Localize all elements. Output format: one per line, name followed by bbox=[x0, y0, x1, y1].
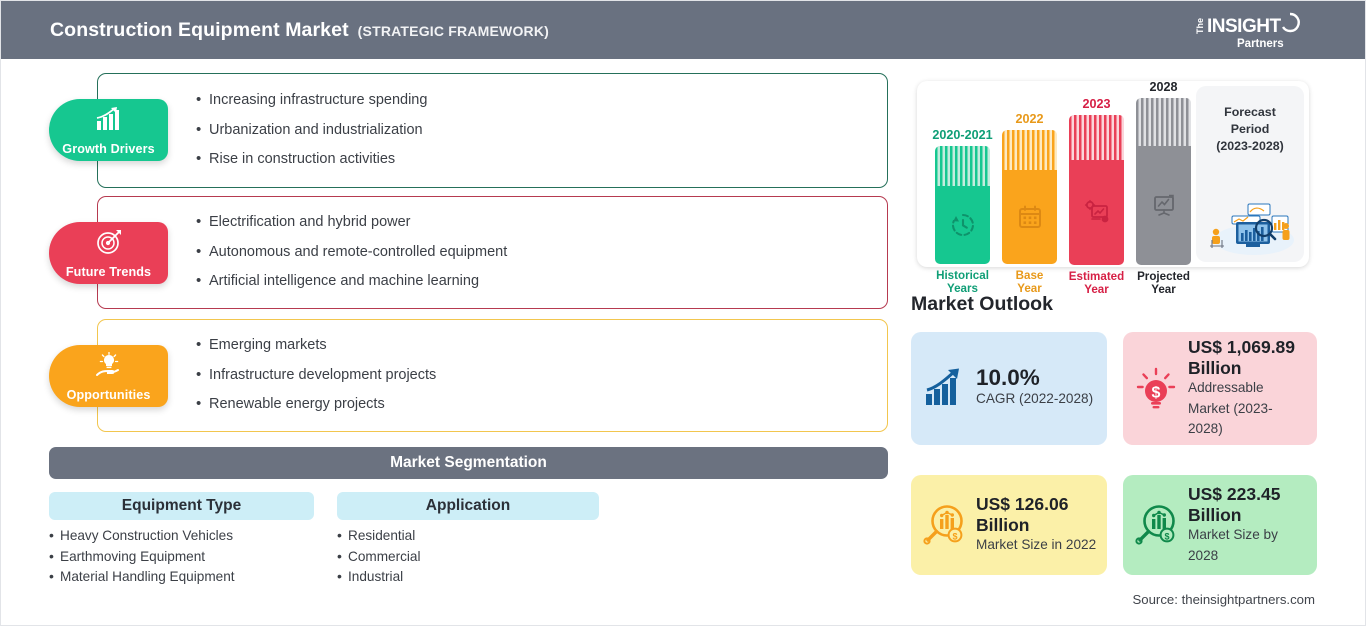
timeline-year-label: 2020-2021 bbox=[932, 129, 992, 142]
timeline-bar-historical-years: 2020-2021 Historical Years bbox=[935, 129, 990, 295]
page-title: Construction Equipment Market bbox=[50, 19, 349, 42]
stat-card-subtitle: Addressable Market (2023-2028) bbox=[1188, 378, 1307, 440]
stat-card-text: 10.0% CAGR (2022-2028) bbox=[976, 368, 1093, 409]
segmentation-header-label: Equipment Type bbox=[122, 497, 241, 515]
timeline-bar-solid bbox=[1136, 146, 1191, 265]
framework-badge-future-trends[interactable]: Future Trends bbox=[49, 222, 168, 284]
bullet-item: Rise in construction activities bbox=[196, 152, 427, 168]
framework-box-future-trends: Electrification and hybrid power Autonom… bbox=[97, 196, 888, 309]
svg-text:INSIGHT: INSIGHT bbox=[1207, 16, 1281, 37]
list-item: Industrial bbox=[337, 567, 421, 588]
data-analysis-illustration bbox=[1202, 196, 1298, 256]
bullet-item: Autonomous and remote-controlled equipme… bbox=[196, 245, 507, 261]
svg-text:$: $ bbox=[1164, 532, 1169, 542]
stat-card-addressable-market[interactable]: $ US$ 1,069.89 Billion Addressable Marke… bbox=[1123, 332, 1317, 445]
bullet-list-opportunities: Emerging markets Infrastructure developm… bbox=[196, 320, 436, 431]
segmentation-header-label: Application bbox=[426, 497, 510, 515]
timeline-bar-stripes bbox=[1069, 115, 1124, 160]
svg-text:Partners: Partners bbox=[1237, 38, 1284, 50]
svg-text:$: $ bbox=[952, 532, 957, 542]
list-item: Heavy Construction Vehicles bbox=[49, 526, 235, 547]
bullet-item: Electrification and hybrid power bbox=[196, 215, 507, 231]
forecast-period-box: Forecast Period (2023-2028) bbox=[1196, 86, 1304, 262]
calendar-icon bbox=[1017, 204, 1043, 230]
framework-box-opportunities: Emerging markets Infrastructure developm… bbox=[97, 319, 888, 432]
source-attribution: Source: theinsightpartners.com bbox=[1132, 592, 1315, 607]
page-header: Construction Equipment Market (STRATEGIC… bbox=[1, 1, 1366, 59]
segmentation-header-equipment-type: Equipment Type bbox=[49, 492, 314, 520]
stat-card-text: US$ 126.06 Billion Market Size in 2022 bbox=[976, 494, 1097, 556]
segmentation-header-application: Application bbox=[337, 492, 599, 520]
market-segmentation-bar: Market Segmentation bbox=[49, 447, 888, 479]
stat-card-market-size-2022[interactable]: $ US$ 126.06 Billion Market Size in 2022 bbox=[911, 475, 1107, 575]
timeline-year-label: 2023 bbox=[1082, 98, 1110, 111]
bullet-item: Emerging markets bbox=[196, 338, 436, 354]
market-segmentation-title: Market Segmentation bbox=[390, 454, 547, 472]
stat-card-text: US$ 223.45 Billion Market Size by 2028 bbox=[1188, 484, 1307, 566]
bullet-item: Urbanization and industrialization bbox=[196, 123, 427, 139]
svg-text:The: The bbox=[1195, 18, 1205, 34]
infographic-page: Construction Equipment Market (STRATEGIC… bbox=[0, 0, 1366, 626]
framework-badge-label: Opportunities bbox=[67, 389, 151, 402]
framework-badge-growth-drivers[interactable]: Growth Drivers bbox=[49, 99, 168, 161]
stat-card-value: US$ 1,069.89 Billion bbox=[1188, 337, 1307, 378]
lightbulb-dollar-icon: $ bbox=[1133, 366, 1179, 412]
timeline-bar-shape bbox=[1002, 130, 1057, 264]
stat-card-subtitle: CAGR (2022-2028) bbox=[976, 389, 1093, 410]
market-outlook-title: Market Outlook bbox=[911, 293, 1053, 316]
list-item: Material Handling Equipment bbox=[49, 567, 235, 588]
stat-card-market-size-2028[interactable]: $ US$ 223.45 Billion Market Size by 2028 bbox=[1123, 475, 1317, 575]
timeline-bar-solid bbox=[1069, 160, 1124, 265]
bullet-item: Renewable energy projects bbox=[196, 397, 436, 413]
bullet-item: Infrastructure development projects bbox=[196, 368, 436, 384]
stat-card-value: US$ 223.45 Billion bbox=[1188, 484, 1307, 525]
timeline-caption: Historical Years bbox=[936, 269, 989, 295]
timeline-bar-shape bbox=[1069, 115, 1124, 265]
timeline-bar-stripes bbox=[935, 146, 990, 186]
timeline-bar-base-year: 2022 bbox=[1002, 113, 1057, 295]
target-dart-icon bbox=[94, 229, 124, 255]
bullet-item: Artificial intelligence and machine lear… bbox=[196, 274, 507, 290]
segmentation-list-application: Residential Commercial Industrial bbox=[337, 526, 421, 588]
forecast-period-title: Forecast Period (2023-2028) bbox=[1196, 104, 1304, 155]
timeline-bar-stripes bbox=[1136, 98, 1191, 146]
page-subtitle: (STRATEGIC FRAMEWORK) bbox=[358, 23, 549, 39]
timeline-caption: Base Year bbox=[1016, 269, 1044, 295]
timeline-bar-shape bbox=[1136, 98, 1191, 265]
stat-card-cagr[interactable]: 10.0% CAGR (2022-2028) bbox=[911, 332, 1107, 445]
timeline-panel: 2020-2021 Historical Years 2022 bbox=[917, 81, 1309, 267]
header-title-group: Construction Equipment Market (STRATEGIC… bbox=[50, 19, 549, 42]
bar-chart-growth-icon bbox=[94, 106, 124, 132]
timeline-bar-projected-year: 2028 Projected Year bbox=[1136, 81, 1191, 296]
framework-badge-label: Growth Drivers bbox=[62, 143, 154, 156]
stat-card-value: US$ 126.06 Billion bbox=[976, 494, 1097, 535]
list-item: Residential bbox=[337, 526, 421, 547]
stat-card-text: US$ 1,069.89 Billion Addressable Market … bbox=[1188, 337, 1307, 440]
presentation-chart-icon bbox=[1151, 192, 1177, 218]
stat-card-value: 10.0% bbox=[976, 368, 1093, 389]
timeline-year-label: 2022 bbox=[1015, 113, 1043, 126]
stat-card-subtitle: Market Size in 2022 bbox=[976, 535, 1097, 556]
timeline-caption: Estimated Year bbox=[1069, 270, 1124, 296]
settings-chart-icon bbox=[1084, 199, 1110, 225]
clock-history-icon bbox=[950, 212, 976, 238]
stat-card-subtitle: Market Size by 2028 bbox=[1188, 525, 1307, 566]
svg-text:$: $ bbox=[1152, 384, 1161, 401]
list-item: Earthmoving Equipment bbox=[49, 547, 235, 568]
lightbulb-hand-icon bbox=[94, 352, 124, 378]
timeline-caption: Projected Year bbox=[1137, 270, 1190, 296]
framework-badge-opportunities[interactable]: Opportunities bbox=[49, 345, 168, 407]
bullet-list-growth-drivers: Increasing infrastructure spending Urban… bbox=[196, 74, 427, 187]
framework-box-growth-drivers: Increasing infrastructure spending Urban… bbox=[97, 73, 888, 188]
magnifier-chart-dollar-icon: $ bbox=[921, 502, 967, 548]
timeline-year-label: 2028 bbox=[1149, 81, 1177, 94]
list-item: Commercial bbox=[337, 547, 421, 568]
timeline-bar-stripes bbox=[1002, 130, 1057, 170]
timeline-bar-shape bbox=[935, 146, 990, 264]
magnifier-chart-dollar-icon: $ bbox=[1133, 502, 1179, 548]
bullet-item: Increasing infrastructure spending bbox=[196, 93, 427, 109]
bar-chart-arrow-up-icon bbox=[921, 366, 967, 412]
timeline-bar-solid bbox=[1002, 170, 1057, 264]
insight-partners-logo: The INSIGHT Partners bbox=[1189, 10, 1307, 52]
segmentation-list-equipment-type: Heavy Construction Vehicles Earthmoving … bbox=[49, 526, 235, 588]
bullet-list-future-trends: Electrification and hybrid power Autonom… bbox=[196, 197, 507, 308]
timeline-bar-estimated-year: 2023 Estimated bbox=[1069, 98, 1124, 296]
framework-badge-label: Future Trends bbox=[66, 266, 151, 279]
timeline-bar-solid bbox=[935, 186, 990, 264]
